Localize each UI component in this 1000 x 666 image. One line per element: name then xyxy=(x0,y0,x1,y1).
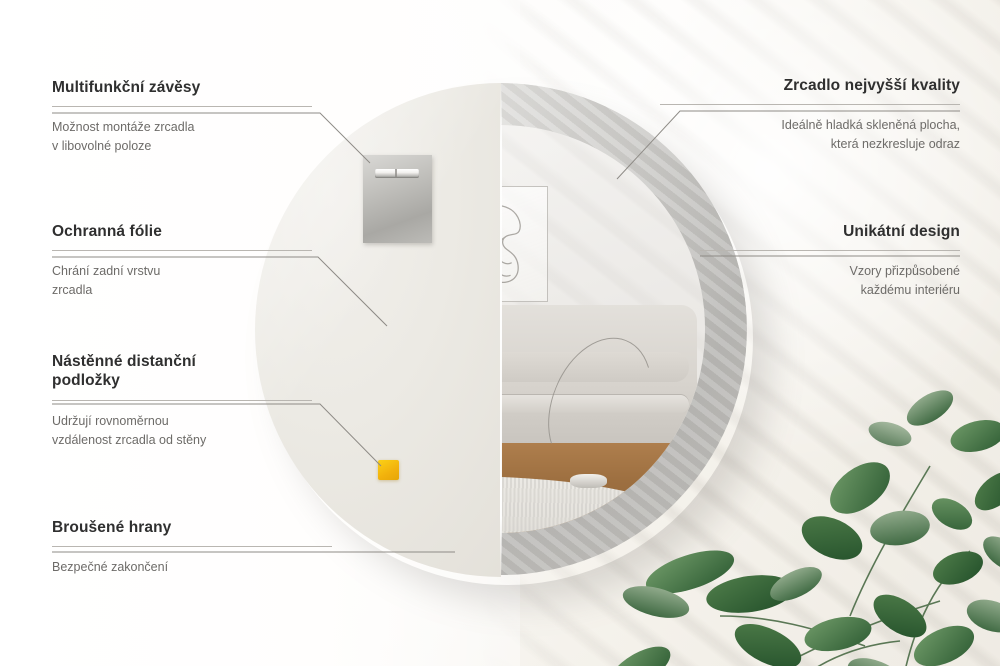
callout-desc-line-2: zrcadla xyxy=(52,281,312,300)
callout-rule xyxy=(52,400,312,401)
callout-title: Zrcadlo nejvyšší kvality xyxy=(660,76,960,95)
callout-desc-line-2: která nezkresluje odraz xyxy=(660,135,960,154)
callout-rule xyxy=(700,250,960,251)
callout-desc-line-1: Vzory přizpůsobené xyxy=(700,262,960,281)
callout-desc-line-1: Udržují rovnoměrnou xyxy=(52,412,312,431)
callout-unique-design: Unikátní design Vzory přizpůsobené každé… xyxy=(700,222,960,300)
callout-desc-line-2: vzdálenost zrcadla od stěny xyxy=(52,431,312,450)
mirror-split-seam xyxy=(500,83,502,577)
callout-rule xyxy=(52,106,312,107)
callout-highest-quality-mirror: Zrcadlo nejvyšší kvality Ideálně hladká … xyxy=(660,76,960,154)
infographic-canvas: Multifunkční závěsy Možnost montáže zrca… xyxy=(0,0,1000,666)
callout-protective-foil: Ochranná fólie Chrání zadní vrstvu zrcad… xyxy=(52,222,312,300)
callout-title-line-2: podložky xyxy=(52,372,120,389)
callout-wall-spacers: Nástěnné distanční podložky Udržují rovn… xyxy=(52,352,312,449)
callout-description: Vzory přizpůsobené každému interiéru xyxy=(700,262,960,300)
callout-title: Multifunkční závěsy xyxy=(52,78,312,97)
spacer-pad xyxy=(378,460,399,480)
hanger-plate xyxy=(363,155,432,243)
callout-desc-line-1: Možnost montáže zrcadla xyxy=(52,118,312,137)
hanger-slot-icon xyxy=(375,169,419,178)
callout-rule xyxy=(52,546,332,547)
callout-desc-line-2: každému interiéru xyxy=(700,281,960,300)
callout-title: Unikátní design xyxy=(700,222,960,241)
foliage-decoration xyxy=(600,316,1000,666)
callout-description: Chrání zadní vrstvu zrcadla xyxy=(52,262,312,300)
callout-description: Možnost montáže zrcadla v libovolné polo… xyxy=(52,118,312,156)
callout-polished-edges: Broušené hrany Bezpečné zakončení xyxy=(52,518,332,577)
callout-title: Nástěnné distanční podložky xyxy=(52,352,312,391)
callout-title: Ochranná fólie xyxy=(52,222,312,241)
callout-description: Udržují rovnoměrnou vzdálenost zrcadla o… xyxy=(52,412,312,450)
callout-desc-line-1: Chrání zadní vrstvu xyxy=(52,262,312,281)
callout-desc-line-1: Bezpečné zakončení xyxy=(52,558,332,577)
callout-description: Bezpečné zakončení xyxy=(52,558,332,577)
callout-title-line-1: Nástěnné distanční xyxy=(52,353,196,370)
callout-desc-line-2: v libovolné poloze xyxy=(52,137,312,156)
callout-description: Ideálně hladká skleněná plocha, která ne… xyxy=(660,116,960,154)
callout-multifunctional-hangers: Multifunkční závěsy Možnost montáže zrca… xyxy=(52,78,312,156)
callout-title: Broušené hrany xyxy=(52,518,332,537)
callout-rule xyxy=(52,250,312,251)
callout-desc-line-1: Ideálně hladká skleněná plocha, xyxy=(660,116,960,135)
callout-rule xyxy=(660,104,960,105)
